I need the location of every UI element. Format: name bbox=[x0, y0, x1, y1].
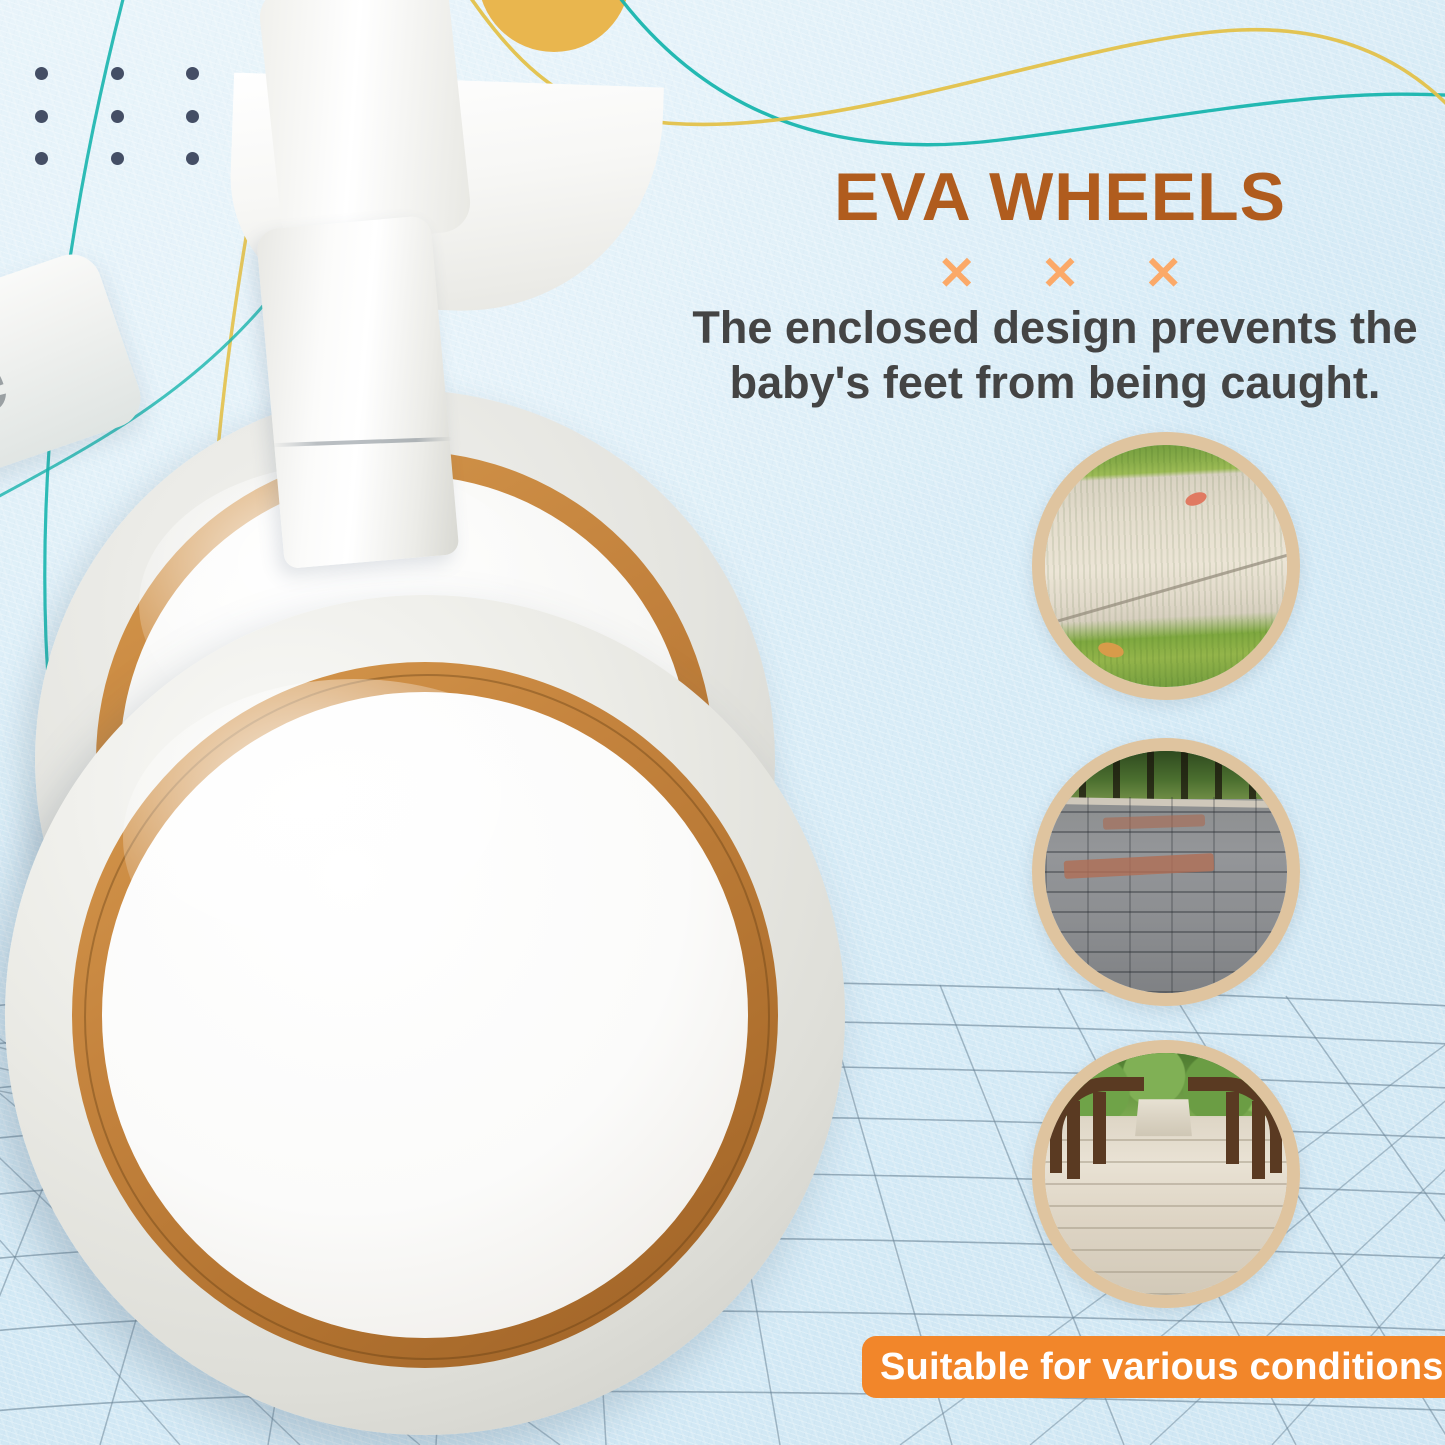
thumbnail-image-sidewalk bbox=[1045, 445, 1287, 687]
dot bbox=[111, 67, 124, 80]
dot bbox=[35, 67, 48, 80]
frame-bar bbox=[0, 246, 149, 543]
product-feature-poster: ie EVA WHEELS ✕ ✕ ✕ The enclosed design … bbox=[0, 0, 1445, 1445]
thumbnail-image-bridge bbox=[1045, 1053, 1287, 1295]
bridge-post bbox=[1252, 1101, 1265, 1178]
tree-line bbox=[1045, 751, 1287, 799]
status-banner-label: Suitable for various conditions bbox=[880, 1346, 1444, 1389]
dot bbox=[111, 110, 124, 123]
thumbnail-concrete-sidewalk bbox=[1032, 432, 1300, 700]
dot bbox=[35, 110, 48, 123]
dot bbox=[186, 67, 199, 80]
bridge-post bbox=[1093, 1092, 1106, 1165]
status-banner: Suitable for various conditions bbox=[862, 1336, 1445, 1398]
page-title: EVA WHEELS bbox=[700, 158, 1420, 236]
fork-stem bbox=[256, 215, 460, 569]
thumbnail-brick-path bbox=[1032, 738, 1300, 1006]
thumbnail-image-bricks bbox=[1045, 751, 1287, 993]
bridge-post bbox=[1067, 1101, 1080, 1178]
bridge-post bbox=[1226, 1092, 1239, 1165]
x-divider-icon: ✕ ✕ ✕ bbox=[700, 246, 1420, 300]
thumbnail-wooden-bridge bbox=[1032, 1040, 1300, 1308]
front-wheel bbox=[5, 595, 845, 1435]
feature-description: The enclosed design prevents the baby's … bbox=[690, 300, 1420, 411]
fork-arm-vertical bbox=[257, 0, 473, 249]
dot bbox=[186, 110, 199, 123]
front-wheel-hub bbox=[102, 692, 747, 1337]
